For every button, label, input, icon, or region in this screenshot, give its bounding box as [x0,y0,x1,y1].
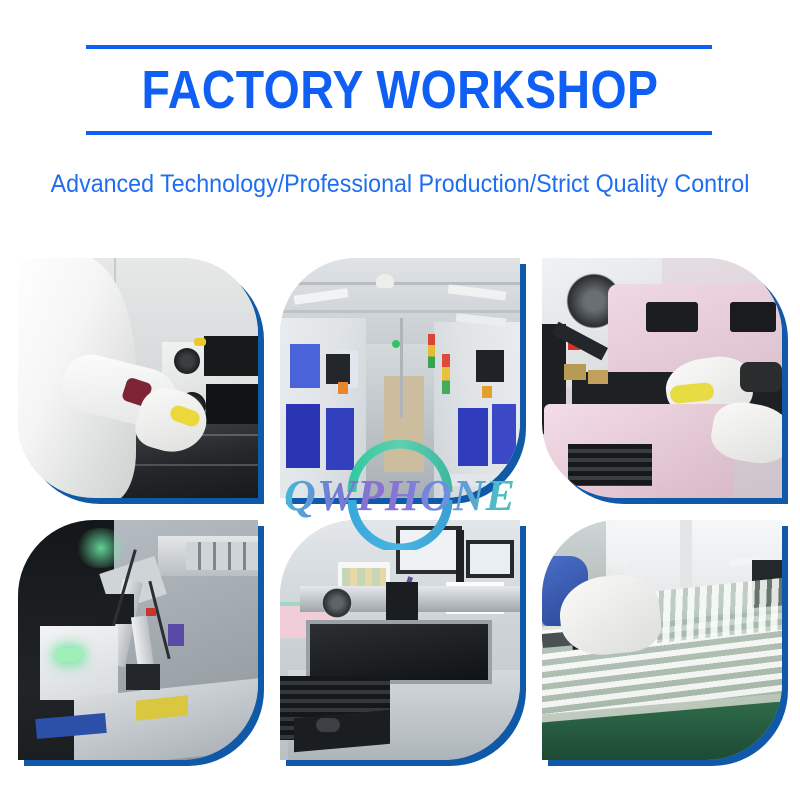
header: FACTORY WORKSHOP Advanced Technology/Pro… [0,0,800,225]
gallery-photo-1[interactable] [18,258,258,498]
photo-image [18,520,258,760]
page-title: FACTORY WORKSHOP [56,54,744,126]
factory-workshop-banner: FACTORY WORKSHOP Advanced Technology/Pro… [0,0,800,800]
photo-image [18,258,258,498]
photo-gallery [18,258,782,776]
photo-image [542,258,782,498]
photo-image [542,520,782,760]
photo-image [280,258,520,498]
gallery-photo-4[interactable] [18,520,258,760]
gallery-photo-6[interactable] [542,520,782,760]
title-rule-top [86,45,712,49]
photo-image [280,520,520,760]
title-rule-bottom [86,131,712,135]
page-subtitle: Advanced Technology/Professional Product… [28,168,772,200]
gallery-photo-5[interactable] [280,520,520,760]
gallery-photo-2[interactable] [280,258,520,498]
gallery-photo-3[interactable] [542,258,782,498]
